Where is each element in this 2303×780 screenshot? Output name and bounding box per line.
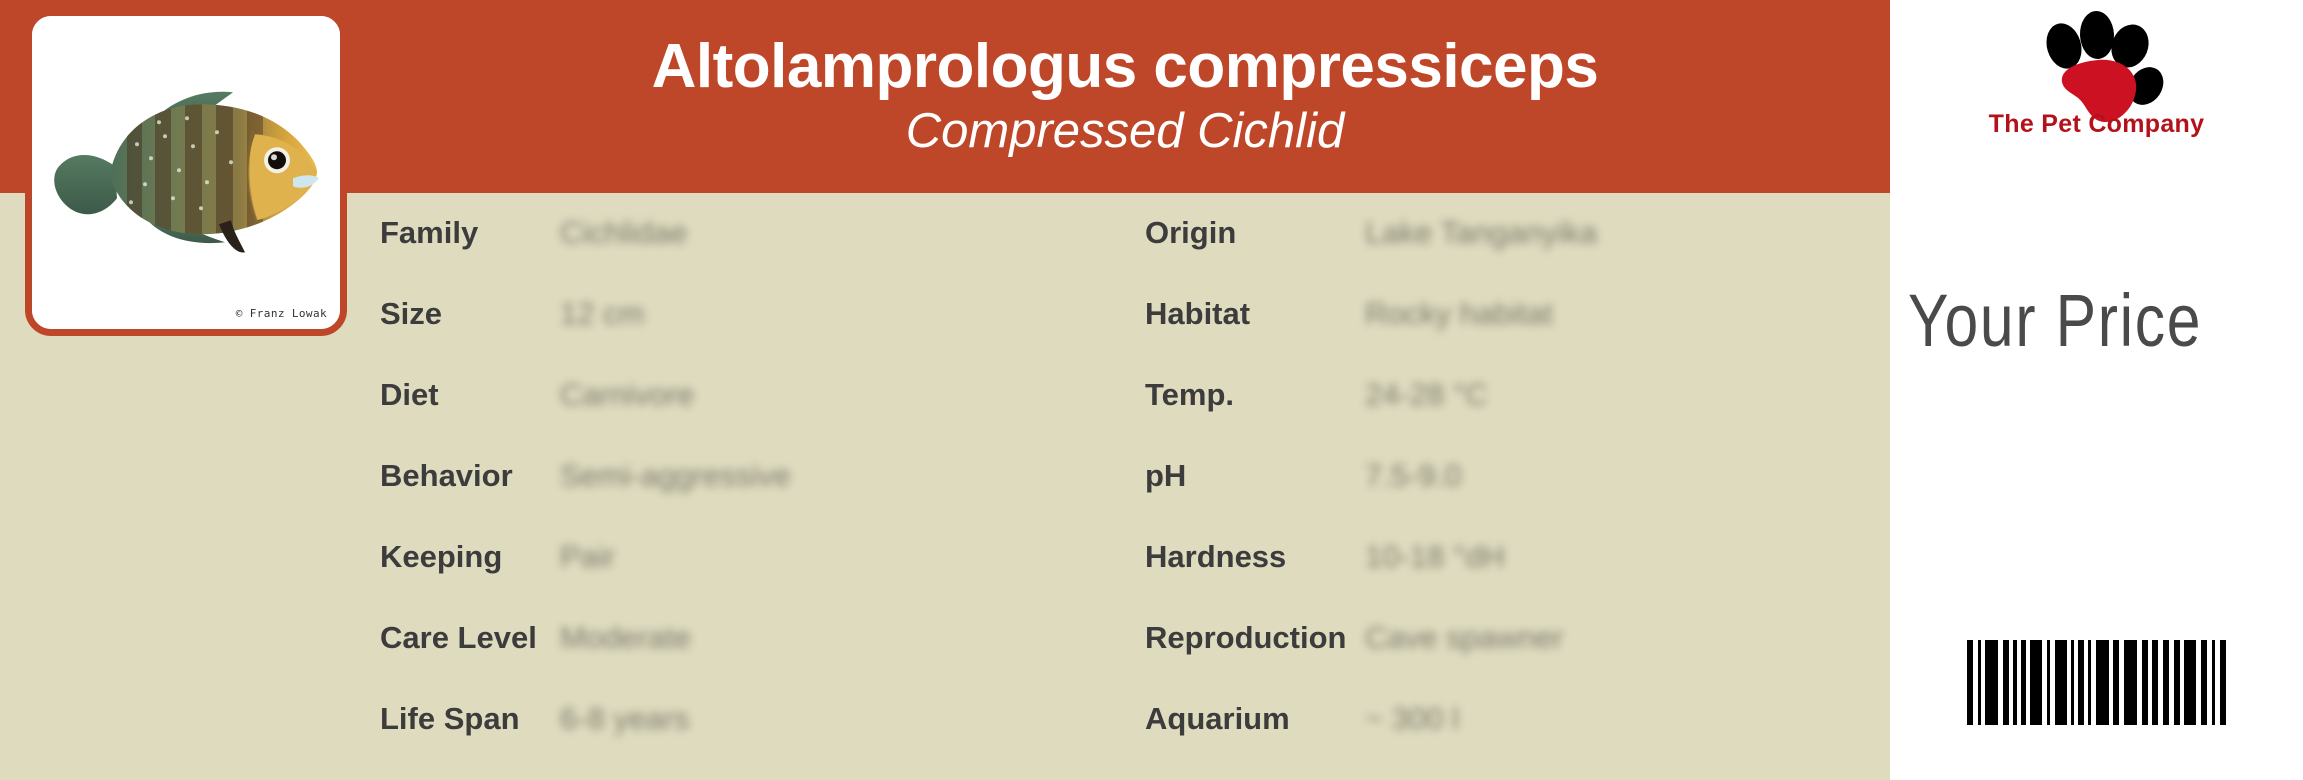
spec-value: Moderate [560,619,691,657]
spec-row-ph: pH 7.5-9.0 [1145,457,1885,538]
price-panel: The Pet Company Your Price [1890,0,2303,780]
spec-label: Temp. [1145,376,1365,414]
spec-row-hardness: Hardness 10-18 °dH [1145,538,1885,619]
product-barcode [1890,640,2303,725]
spec-row-reproduction: Reproduction Cave spawner [1145,619,1885,700]
spec-value: 24-28 °C [1365,376,1488,414]
spec-value: Pair [560,538,615,576]
spec-label: Diet [380,376,560,414]
spec-label: pH [1145,457,1365,495]
spec-value: Cave spawner [1365,619,1563,657]
spec-label: Aquarium [1145,700,1365,738]
barcode-bar [2030,640,2042,725]
spec-row-diet: Diet Carnivore [380,376,1080,457]
spec-value: 12 cm [560,295,644,333]
barcode-bar [2124,640,2137,725]
spec-value: Semi-aggressive [560,457,791,495]
barcode-bar [2184,640,2196,725]
barcode-bar [2220,640,2226,725]
spec-row-aquarium: Aquarium ~ 300 l [1145,700,1885,780]
spec-label: Reproduction [1145,619,1365,657]
spec-column-left: Family Cichlidae Size 12 cm Diet Carnivo… [380,214,1080,780]
spec-label: Origin [1145,214,1365,252]
spec-row-care-level: Care Level Moderate [380,619,1080,700]
spec-label: Life Span [380,700,560,738]
brand-logo: The Pet Company [1890,8,2303,188]
spec-value: Cichlidae [560,214,688,252]
spec-row-keeping: Keeping Pair [380,538,1080,619]
spec-value: Rocky habitat [1365,295,1553,333]
spec-label: Behavior [380,457,560,495]
scientific-name: Altolamprologus compressiceps [652,34,1599,99]
spec-value: Carnivore [560,376,694,414]
spec-row-behavior: Behavior Semi-aggressive [380,457,1080,538]
spec-column-right: Origin Lake Tanganyika Habitat Rocky hab… [1145,214,1885,780]
barcode-bar [2055,640,2067,725]
spec-value: 6-8 years [560,700,689,738]
spec-label: Care Level [380,619,560,657]
price-heading: Your Price [1908,278,2202,363]
species-photo: © Franz Lowak [32,16,340,329]
spec-label: Size [380,295,560,333]
spec-label: Keeping [380,538,560,576]
species-photo-card: © Franz Lowak [25,9,347,336]
spec-row-life-span: Life Span 6-8 years [380,700,1080,780]
spec-label: Habitat [1145,295,1365,333]
spec-value: 10-18 °dH [1365,538,1505,576]
photo-credit: © Franz Lowak [236,307,327,320]
spec-value: 7.5-9.0 [1365,457,1462,495]
pet-store-fish-label: Altolamprologus compressiceps Compressed… [0,0,2303,780]
spec-value: Lake Tanganyika [1365,214,1597,252]
common-name: Compressed Cichlid [906,105,1344,159]
spec-row-origin: Origin Lake Tanganyika [1145,214,1885,295]
spec-row-habitat: Habitat Rocky habitat [1145,295,1885,376]
barcode-bar [1985,640,1998,725]
spec-label: Hardness [1145,538,1365,576]
brand-wordmark: The Pet Company [1890,110,2303,139]
spec-label: Family [380,214,560,252]
barcode-bar [2096,640,2109,725]
spec-value: ~ 300 l [1365,700,1459,738]
header-text-group: Altolamprologus compressiceps Compressed… [360,0,1890,193]
fish-illustration-icon [41,74,331,264]
spec-row-size: Size 12 cm [380,295,1080,376]
spec-row-family: Family Cichlidae [380,214,1080,295]
spec-row-temperature: Temp. 24-28 °C [1145,376,1885,457]
